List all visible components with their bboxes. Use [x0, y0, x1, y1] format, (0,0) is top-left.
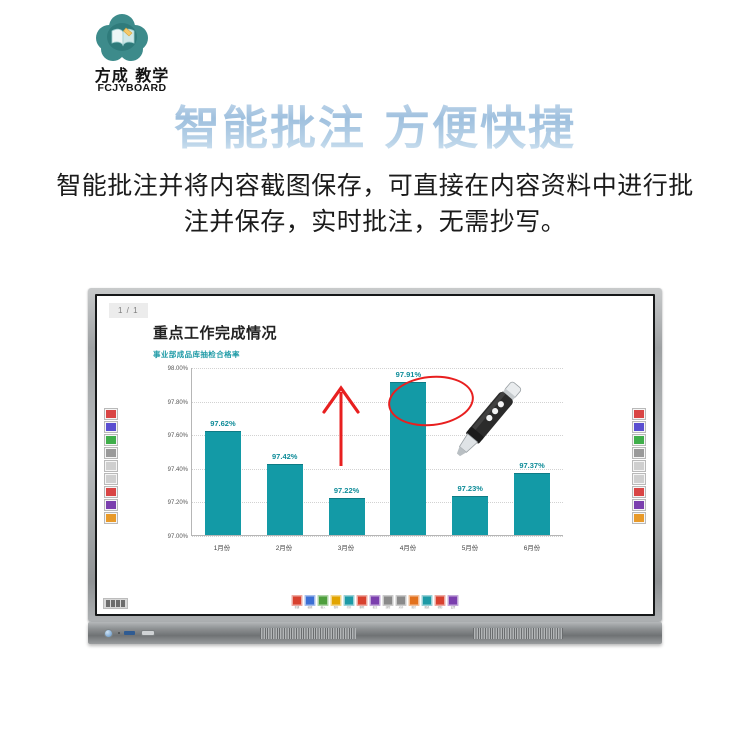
chart-bar-column: 97.62%	[192, 368, 254, 535]
right-toolbar[interactable]	[632, 408, 646, 524]
display-bezel: 1 / 1 重点工作完成情况 事业部成品库抽检合格率 98.00%97.80%9…	[88, 288, 662, 622]
device-base	[88, 622, 662, 644]
chart-x-tick: 2月份	[253, 542, 315, 552]
highlighter-tool[interactable]	[104, 421, 118, 433]
edit-button[interactable]: 编辑	[305, 595, 316, 610]
chart-bar	[514, 473, 550, 535]
eraser-tool[interactable]	[632, 447, 646, 459]
chart-icon	[422, 595, 433, 606]
chart-bar-column: 97.42%	[254, 368, 316, 535]
redo-tool-icon	[634, 475, 644, 483]
toolbar-item-label: 批注	[370, 606, 380, 610]
image-button[interactable]: 图片	[409, 595, 420, 610]
book-icon	[110, 26, 136, 48]
image-icon	[409, 595, 420, 606]
corner-mini-toolbar[interactable]	[103, 598, 128, 609]
toolbar-item-label: 打开	[344, 606, 354, 610]
palette-tool-icon	[634, 501, 644, 509]
chart-x-tick: 6月份	[501, 542, 563, 552]
chart-bar-value-label: 97.62%	[210, 419, 235, 428]
chart-y-tick: 97.20%	[168, 500, 188, 506]
settings-icon	[448, 595, 459, 606]
chart-x-labels: 1月份2月份3月份4月份5月份6月份	[191, 542, 563, 552]
lines-button[interactable]: 线型	[383, 595, 394, 610]
redo-tool[interactable]	[104, 473, 118, 485]
eraser-tool-icon	[106, 449, 116, 457]
chart-x-tick: 1月份	[191, 542, 253, 552]
delete-button[interactable]: 删除	[357, 595, 368, 610]
toolbar-item-label: 删除	[357, 606, 367, 610]
toolbar-item-label: 设置	[448, 606, 458, 610]
redo-tool-icon	[106, 475, 116, 483]
speaker-grille-left	[260, 628, 356, 639]
highlighter-tool[interactable]	[632, 421, 646, 433]
power-button[interactable]	[104, 629, 113, 638]
chart-bar-value-label: 97.22%	[334, 486, 359, 495]
save-tool-icon	[106, 488, 116, 496]
insert-icon	[318, 595, 329, 606]
speaker-grille-right	[473, 628, 563, 639]
page-description: 智能批注并将内容截图保存，可直接在内容资料中进行批注并保存，实时批注，无需抄写。	[45, 168, 705, 240]
align-button[interactable]: 对齐	[396, 595, 407, 610]
trend-arrow-annotation	[318, 382, 364, 468]
page-headline: 智能批注 方便快捷	[0, 92, 750, 158]
indicator-led	[118, 632, 120, 634]
chart-y-tick: 98.00%	[168, 366, 188, 372]
stylus-pen-icon	[444, 372, 530, 468]
toolbar-item-label: 图片	[409, 606, 419, 610]
more-tool-icon	[106, 514, 116, 522]
palette-tool[interactable]	[632, 499, 646, 511]
chart-title: 重点工作完成情况	[153, 322, 583, 343]
edit-icon	[305, 595, 316, 606]
chart-y-tick: 97.60%	[168, 433, 188, 439]
toolbar-item-label: 对齐	[396, 606, 406, 610]
undo-tool-icon	[634, 462, 644, 470]
pen-tool-icon	[106, 410, 116, 418]
help-button[interactable]: 帮助	[435, 595, 446, 610]
brand-logo: 方成 教学 FCJYBOARD	[72, 14, 192, 90]
help-icon	[435, 595, 446, 606]
align-icon	[396, 595, 407, 606]
brush-tool[interactable]	[632, 434, 646, 446]
eraser-tool[interactable]	[104, 447, 118, 459]
brush-tool-icon	[106, 436, 116, 444]
open-icon	[344, 595, 355, 606]
chart-x-tick: 4月份	[377, 542, 439, 552]
settings-button[interactable]: 设置	[448, 595, 459, 610]
highlighter-tool-icon	[634, 423, 644, 431]
redo-tool[interactable]	[632, 473, 646, 485]
left-toolbar[interactable]	[104, 408, 118, 524]
palette-tool-icon	[106, 501, 116, 509]
chart-bar	[267, 464, 303, 535]
chart-container: 重点工作完成情况 事业部成品库抽检合格率 98.00%97.80%97.60%9…	[153, 322, 583, 590]
chart-x-tick: 3月份	[315, 542, 377, 552]
save-tool[interactable]	[632, 486, 646, 498]
toolbar-item-label: 插入	[318, 606, 328, 610]
undo-tool[interactable]	[104, 460, 118, 472]
more-tool[interactable]	[104, 512, 118, 524]
delete-icon	[357, 595, 368, 606]
chart-x-tick: 5月份	[439, 542, 501, 552]
more-tool-icon	[634, 514, 644, 522]
palette-tool[interactable]	[104, 499, 118, 511]
chart-bar	[329, 498, 365, 535]
eraser-tool-icon	[634, 449, 644, 457]
save-tool[interactable]	[104, 486, 118, 498]
toolbar-item-label: 新建	[292, 606, 302, 610]
pen-tool[interactable]	[104, 408, 118, 420]
toolbar-item-label: 帮助	[435, 606, 445, 610]
chart-button[interactable]: 图表	[422, 595, 433, 610]
lines-icon	[383, 595, 394, 606]
undo-tool-icon	[106, 462, 116, 470]
save-button[interactable]: 保存	[331, 595, 342, 610]
interactive-whiteboard-device: 1 / 1 重点工作完成情况 事业部成品库抽检合格率 98.00%97.80%9…	[88, 288, 662, 648]
annotate-icon	[370, 595, 381, 606]
chart-bar-value-label: 97.23%	[458, 484, 483, 493]
flower-book-logo-icon	[96, 14, 148, 60]
toolbar-item-label: 编辑	[305, 606, 315, 610]
highlighter-tool-icon	[106, 423, 116, 431]
undo-tool[interactable]	[632, 460, 646, 472]
annotate-button[interactable]: 批注	[370, 595, 381, 610]
insert-button[interactable]: 插入	[318, 595, 329, 610]
chart-gridline: 97.00%	[192, 536, 563, 537]
chart-bar	[205, 431, 241, 535]
page-indicator: 1 / 1	[109, 303, 148, 318]
chart-plot-area: 98.00%97.80%97.60%97.40%97.20%97.00% 97.…	[191, 368, 563, 536]
toolbar-item-label: 线型	[383, 606, 393, 610]
toolbar-item-label: 图表	[422, 606, 432, 610]
brush-tool-icon	[634, 436, 644, 444]
chart-bar	[452, 496, 488, 535]
usb-port	[124, 631, 135, 635]
pen-tool[interactable]	[632, 408, 646, 420]
save-tool-icon	[634, 488, 644, 496]
chart-y-tick: 97.00%	[168, 534, 188, 540]
chart-bar-value-label: 97.42%	[272, 452, 297, 461]
save-icon	[331, 595, 342, 606]
chart-y-tick: 97.40%	[168, 467, 188, 473]
pen-tool-icon	[634, 410, 644, 418]
chart-subtitle: 事业部成品库抽检合格率	[153, 349, 583, 360]
chart-y-tick: 97.80%	[168, 400, 188, 406]
brush-tool[interactable]	[104, 434, 118, 446]
new-file-icon	[292, 595, 303, 606]
sensor-window	[141, 630, 155, 636]
new-file-button[interactable]: 新建	[292, 595, 303, 610]
bottom-toolbar[interactable]: 新建编辑插入保存打开删除批注线型对齐图片图表帮助设置	[292, 595, 459, 610]
open-button[interactable]: 打开	[344, 595, 355, 610]
more-tool[interactable]	[632, 512, 646, 524]
whiteboard-screen[interactable]: 1 / 1 重点工作完成情况 事业部成品库抽检合格率 98.00%97.80%9…	[97, 296, 653, 614]
toolbar-item-label: 保存	[331, 606, 341, 610]
